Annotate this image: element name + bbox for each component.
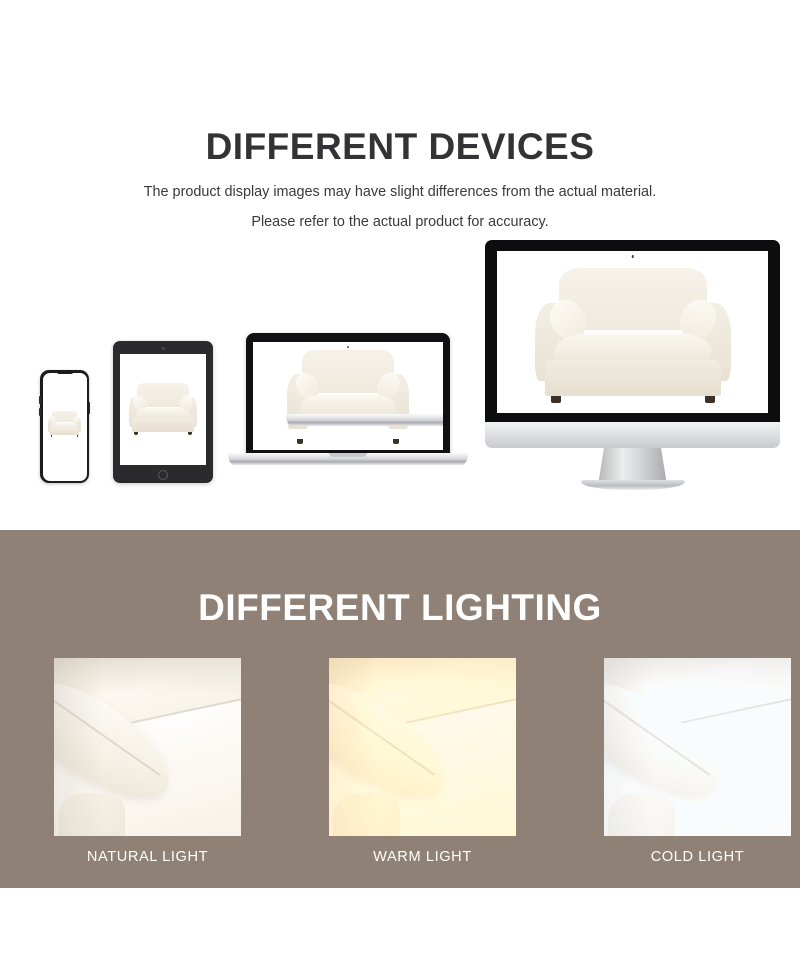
sofa-base (132, 418, 194, 432)
phone-screen (43, 373, 87, 481)
monitor-mockup (485, 240, 780, 502)
monitor-camera-icon (631, 255, 634, 258)
devices-subtitle-line-2: Please refer to the actual product for a… (0, 214, 800, 230)
phone-volume-down-button (39, 408, 41, 416)
phone-volume-up-button (39, 396, 41, 404)
tablet-mockup (113, 341, 213, 483)
monitor-bezel (485, 240, 780, 422)
laptop-trackpad-notch (329, 453, 367, 457)
sofa-closeup-image (604, 658, 791, 836)
sofa-left-foot (51, 435, 53, 436)
sofa-product-image (128, 383, 198, 435)
sofa-left-foot (551, 396, 561, 403)
sofa-right-foot (393, 439, 399, 444)
laptop-base (228, 453, 468, 465)
sofa-closeup-image (329, 658, 516, 836)
laptop-mockup (228, 333, 468, 465)
different-devices-section: DIFFERENT DEVICES The product display im… (0, 0, 800, 530)
lighting-image-cold (604, 658, 791, 836)
monitor-stand-neck (599, 448, 667, 482)
sofa-left-foot (297, 439, 303, 444)
sofa-right-foot (188, 432, 192, 435)
sofa-base (50, 428, 80, 435)
lighting-label-warm: WARM LIGHT (329, 849, 516, 865)
sofa-right-foot (705, 396, 715, 403)
lighting-tile-natural: NATURAL LIGHT (54, 658, 241, 865)
sofa-right-foot (77, 435, 79, 436)
closeup-top-shading (329, 658, 516, 694)
lighting-tile-cold: COLD LIGHT (604, 658, 791, 865)
tablet-screen (120, 354, 206, 465)
lighting-tile-warm: WARM LIGHT (329, 658, 516, 865)
lighting-image-natural (54, 658, 241, 836)
lighting-label-natural: NATURAL LIGHT (54, 849, 241, 865)
monitor-chin (485, 422, 780, 448)
laptop-lid (246, 333, 450, 457)
devices-heading: DIFFERENT DEVICES (0, 128, 800, 165)
closeup-top-shading (604, 658, 791, 694)
device-mockup-stage (0, 230, 800, 500)
sofa-product-image (48, 411, 82, 437)
bottom-white-area (0, 888, 800, 977)
lighting-heading: DIFFERENT LIGHTING (0, 589, 800, 626)
different-lighting-section: DIFFERENT LIGHTING NATURAL LIGHT (0, 530, 800, 888)
phone-power-button (89, 402, 91, 414)
monitor-screen (497, 251, 768, 413)
closeup-top-shading (54, 658, 241, 694)
lighting-label-cold: COLD LIGHT (604, 849, 791, 865)
phone-mockup (40, 370, 89, 483)
devices-subtitle-line-1: The product display images may have slig… (0, 184, 800, 200)
sofa-closeup-image (54, 658, 241, 836)
sofa-base (545, 360, 721, 396)
phone-notch (55, 370, 74, 374)
laptop-camera-icon (347, 346, 349, 348)
lighting-image-warm (329, 658, 516, 836)
sofa-left-foot (134, 432, 138, 435)
tablet-home-button (158, 470, 168, 480)
sofa-base (286, 414, 443, 426)
sofa-product-image (286, 350, 410, 444)
laptop-screen (253, 342, 443, 450)
monitor-stand-base (581, 480, 685, 490)
sofa-product-image (533, 268, 733, 403)
tablet-camera-icon (162, 347, 165, 350)
lighting-tiles: NATURAL LIGHT WARM LIGHT (14, 642, 786, 881)
